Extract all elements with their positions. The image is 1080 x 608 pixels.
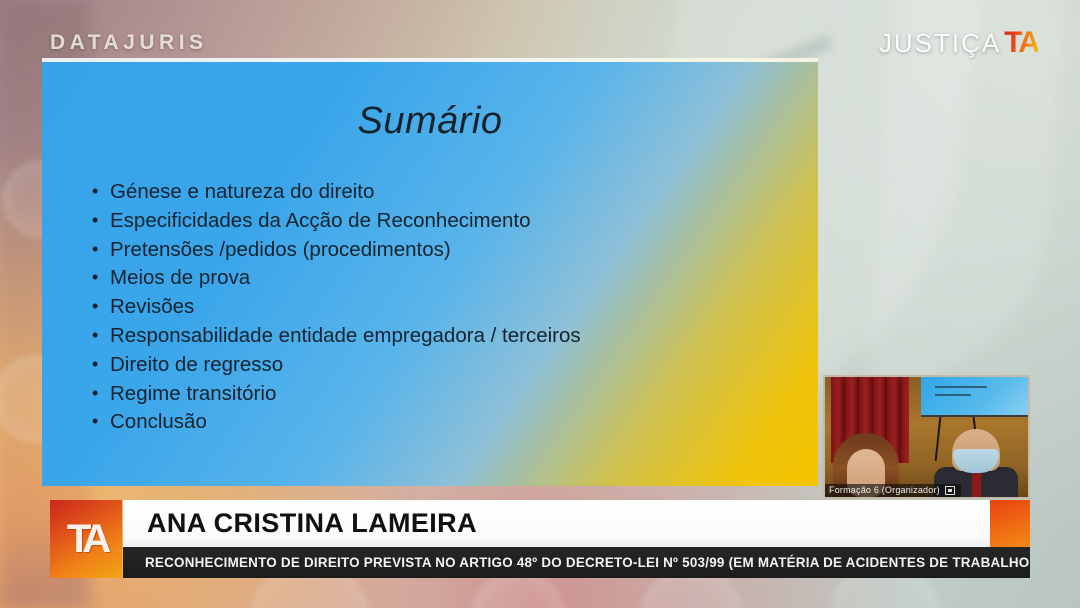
- pip-screen-text-line: [935, 394, 971, 396]
- speaker-name-bar: ANA CRISTINA LAMEIRA: [123, 500, 990, 547]
- bullet-item: Meios de prova: [90, 264, 798, 293]
- bullet-item: Responsabilidade entidade empregadora / …: [90, 322, 798, 351]
- bullet-item: Direito de regresso: [90, 351, 798, 380]
- broadcast-stage: DATAJURIS JUSTIÇA TA Sumário Génese e na…: [0, 0, 1080, 608]
- ta-badge: TA: [50, 500, 122, 578]
- bullet-item: Especificidades da Acção de Reconhecimen…: [90, 207, 798, 236]
- slide-bullet-list: Génese e natureza do direito Especificid…: [90, 178, 798, 437]
- bullet-item: Regime transitório: [90, 380, 798, 409]
- datajuris-watermark: DATAJURIS: [50, 31, 208, 55]
- pip-participant-label: Formação 6 (Organizador): [825, 484, 961, 497]
- bullet-item: Pretensões /pedidos (procedimentos): [90, 236, 798, 265]
- lower-third: TA ANA CRISTINA LAMEIRA RECONHECIMENTO D…: [50, 500, 1030, 578]
- webcam-pip-video[interactable]: Formação 6 (Organizador): [823, 375, 1030, 499]
- bullet-item: Conclusão: [90, 408, 798, 437]
- bullet-item: Génese e natureza do direito: [90, 178, 798, 207]
- justica-ta-logo: JUSTIÇA TA: [879, 26, 1038, 60]
- logo-ta-mark: TA: [1003, 26, 1038, 60]
- pip-participant-tie: [972, 473, 981, 497]
- ticker-text: RECONHECIMENTO DE DIREITO PREVISTA NO AR…: [123, 555, 1030, 570]
- ta-badge-mark: TA: [67, 517, 105, 562]
- pip-screen-text-line: [935, 386, 987, 388]
- pin-icon[interactable]: [945, 486, 955, 495]
- speaker-name: ANA CRISTINA LAMEIRA: [123, 508, 477, 539]
- name-bar-accent-cap: [990, 500, 1030, 547]
- pip-label-text: Formação 6 (Organizador): [829, 485, 940, 495]
- logo-word: JUSTIÇA: [879, 28, 1001, 59]
- bullet-item: Revisões: [90, 293, 798, 322]
- ticker-bar: RECONHECIMENTO DE DIREITO PREVISTA NO AR…: [123, 547, 1030, 578]
- pip-projection-screen: [921, 375, 1030, 417]
- presentation-slide: Sumário Génese e natureza do direito Esp…: [42, 58, 818, 486]
- slide-title: Sumário: [42, 100, 818, 143]
